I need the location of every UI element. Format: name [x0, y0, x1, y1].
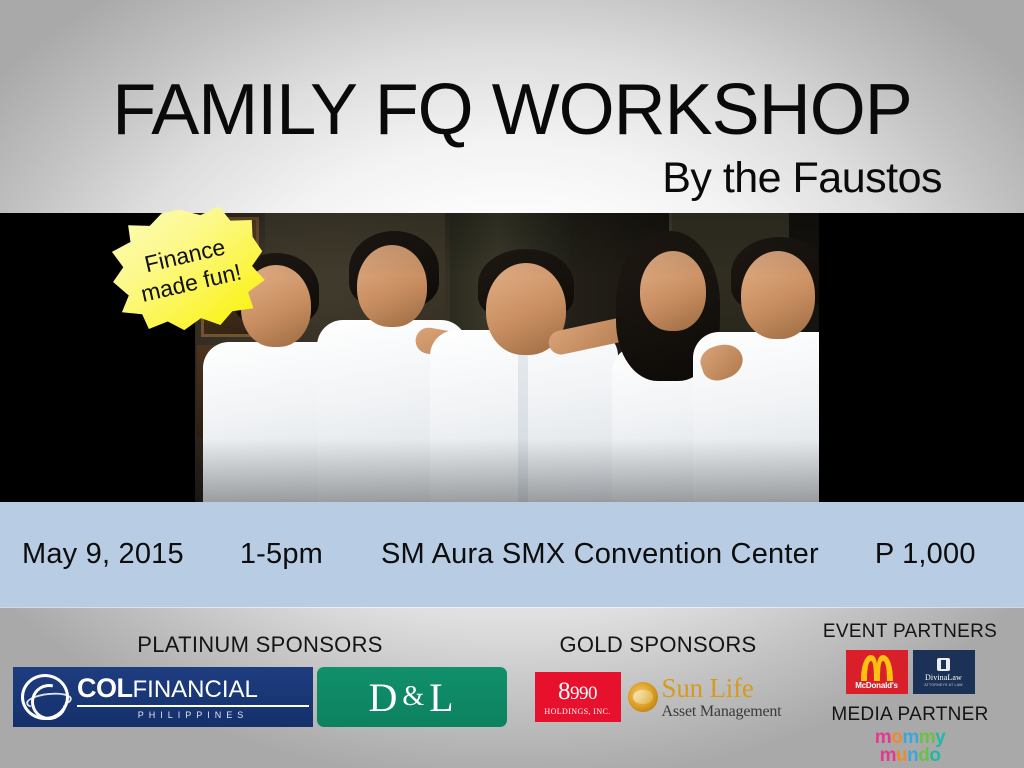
family-photo — [195, 213, 819, 502]
sponsor-logo-col-financial[interactable]: COLFINANCIAL PHILIPPINES — [13, 667, 313, 727]
sun-life-name: Sun Life — [662, 675, 782, 702]
partner-logo-mommy-mundo[interactable]: mommy mundo — [875, 729, 945, 765]
divinalaw-emblem-icon — [937, 658, 950, 671]
event-date: May 9, 2015 — [22, 538, 184, 571]
event-price: P 1,000 — [875, 538, 976, 571]
shirt-placket — [518, 330, 528, 502]
sponsor-logo-dl[interactable]: D & L — [317, 667, 507, 727]
partners-group: EVENT PARTNERS McDonald's DivinaLaw ATTO… — [796, 607, 1024, 768]
gold-sponsors-heading: GOLD SPONSORS — [520, 632, 796, 658]
col-logo-word-col: COL — [77, 673, 133, 703]
person-son-right — [685, 213, 819, 502]
mommy-mundo-line-2: mundo — [880, 747, 941, 765]
divinalaw-wordmark: DivinaLaw — [925, 673, 962, 682]
col-logo-rule — [77, 705, 309, 707]
col-circle-icon — [21, 674, 69, 720]
sun-icon — [628, 682, 658, 712]
sun-life-division: Asset Management — [662, 704, 782, 720]
mcdonalds-wordmark: McDonald's — [855, 681, 898, 690]
logo-8990-sub: HOLDINGS, INC. — [544, 707, 610, 716]
face — [741, 251, 815, 339]
golden-arches-icon — [857, 653, 897, 681]
event-time: 1-5pm — [240, 538, 323, 571]
partner-logo-mcdonalds[interactable]: McDonald's — [846, 650, 908, 694]
col-logo-country: PHILIPPINES — [77, 710, 309, 720]
finance-made-fun-badge: Finance made fun! — [104, 199, 271, 339]
platinum-sponsors-group: PLATINUM SPONSORS COLFINANCIAL PHILIPPIN… — [0, 607, 520, 768]
partner-logo-divinalaw[interactable]: DivinaLaw ATTORNEYS AT LAW — [913, 650, 975, 694]
gold-sponsors-group: GOLD SPONSORS 8990 HOLDINGS, INC. Sun Li… — [520, 607, 796, 768]
event-poster: FAMILY FQ WORKSHOP By the Faustos — [0, 0, 1024, 768]
sponsor-logo-sun-life[interactable]: Sun Life Asset Management — [628, 675, 782, 720]
page-title: FAMILY FQ WORKSHOP — [0, 74, 1024, 146]
dl-letter-d: D — [368, 674, 399, 721]
media-partner-heading: MEDIA PARTNER — [796, 704, 1024, 726]
platinum-sponsors-heading: PLATINUM SPONSORS — [0, 632, 520, 658]
person-father — [430, 213, 610, 502]
page-subtitle: By the Faustos — [662, 157, 942, 200]
poster-header: FAMILY FQ WORKSHOP By the Faustos — [0, 0, 1024, 213]
col-logo-word-financial: FINANCIAL — [133, 676, 258, 703]
event-venue: SM Aura SMX Convention Center — [381, 538, 819, 571]
divinalaw-tagline: ATTORNEYS AT LAW — [924, 683, 963, 687]
event-partners-heading: EVENT PARTNERS — [796, 621, 1024, 643]
dl-letter-l: L — [429, 674, 455, 721]
event-details-bar: May 9, 2015 1-5pm SM Aura SMX Convention… — [0, 502, 1024, 607]
logo-8990-number: 8990 — [558, 679, 597, 704]
sponsor-logo-8990[interactable]: 8990 HOLDINGS, INC. — [535, 672, 621, 722]
sponsors-section: PLATINUM SPONSORS COLFINANCIAL PHILIPPIN… — [0, 607, 1024, 768]
face — [357, 245, 427, 327]
dl-ampersand: & — [399, 681, 429, 713]
